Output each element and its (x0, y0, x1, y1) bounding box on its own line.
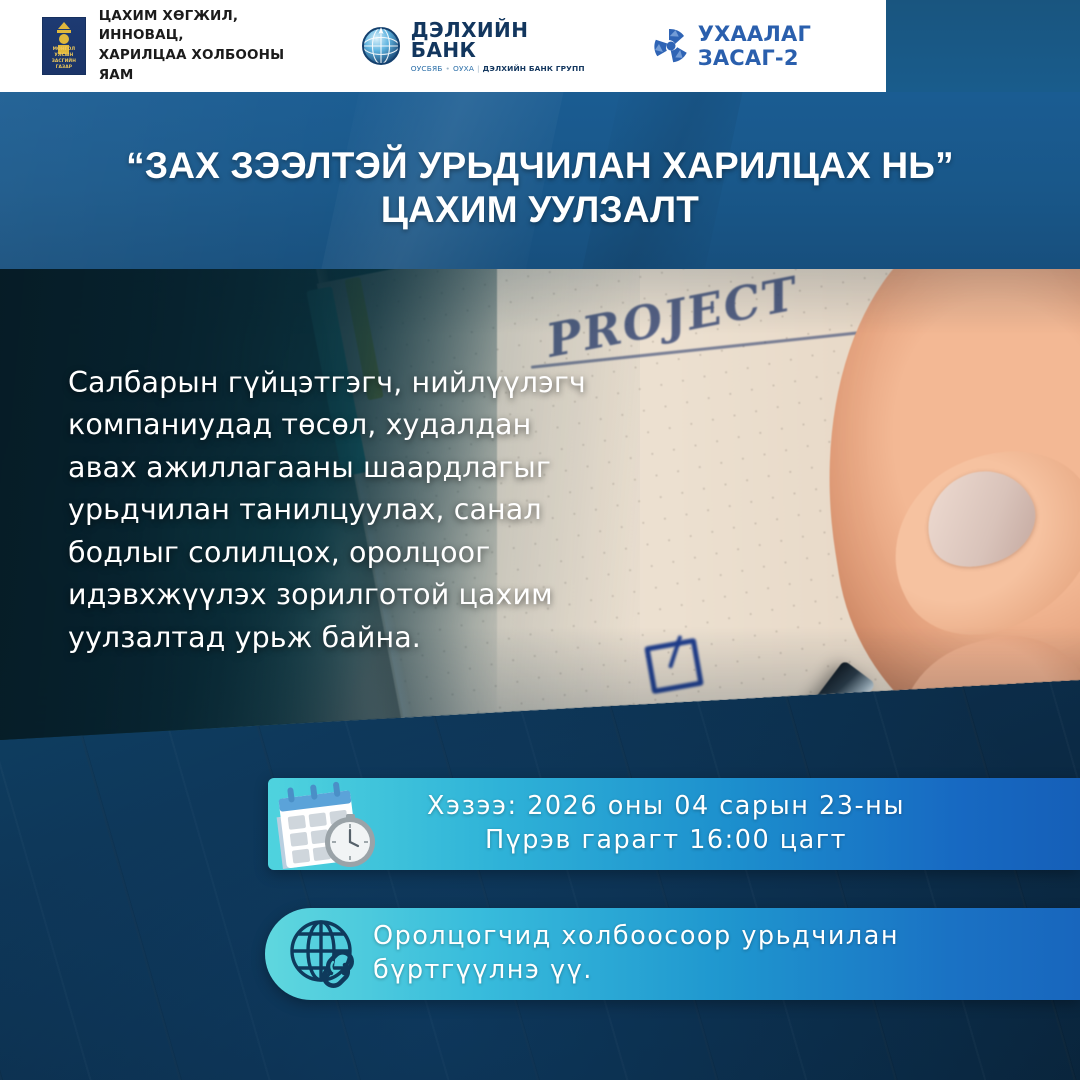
mongolia-soyombo-emblem-icon: МОНГОЛ УЛСЫН ЗАСГИЙН ГАЗАР (42, 17, 86, 75)
date-banner-text: Хэзээ: 2026 оны 04 сарын 23-ны Пүрэв гар… (386, 790, 946, 857)
emblem-caption: МОНГОЛ УЛСЫН ЗАСГИЙН ГАЗАР (43, 47, 85, 71)
smart-government-pinwheel-icon (651, 26, 691, 66)
event-poster: PROJECT Салбарын гүйц (0, 0, 1080, 1080)
world-bank-subtitle: ОУСБЯБ•ОУХА|ДЭЛХИЙН БАНК ГРУПП (411, 64, 585, 73)
body-paragraph: Салбарын гүйцэтгэгч, нийлүүлэгч компаниу… (68, 362, 588, 659)
title-band: “ЗАХ ЗЭЭЛТЭЙ УРЬДЧИЛАН ХАРИЛЦАХ НЬ” ЦАХИ… (0, 92, 1080, 269)
page-title: “ЗАХ ЗЭЭЛТЭЙ УРЬДЧИЛАН ХАРИЛЦАХ НЬ” ЦАХИ… (0, 92, 1080, 231)
world-bank-title: ДЭЛХИЙН БАНК (411, 20, 585, 60)
world-bank-globe-icon (360, 25, 402, 67)
date-banner: Хэзээ: 2026 оны 04 сарын 23-ны Пүрэв гар… (268, 778, 1080, 870)
wb-sub-mid: ОУХА (453, 64, 474, 73)
calendar-clock-icon (258, 772, 384, 880)
smart-government-title: УХААЛАГ ЗАСАГ-2 (698, 22, 886, 70)
globe-link-icon (287, 917, 361, 991)
smart-government-logo: УХААЛАГ ЗАСАГ-2 (651, 22, 886, 70)
registration-banner-text: Оролцогчид холбоосоор урьдчилан бүртгүүл… (373, 920, 899, 987)
ministry-name: ЦАХИМ ХӨГЖИЛ, ИННОВАЦ, ХАРИЛЦАА ХОЛБООНЫ… (99, 7, 298, 85)
registration-banner: Оролцогчид холбоосоор урьдчилан бүртгүүл… (265, 908, 1080, 1000)
world-bank-logo: ДЭЛХИЙН БАНК ОУСБЯБ•ОУХА|ДЭЛХИЙН БАНК ГР… (360, 20, 585, 73)
header-right-fill (886, 0, 1080, 92)
logo-strip: МОНГОЛ УЛСЫН ЗАСГИЙН ГАЗАР ЦАХИМ ХӨГЖИЛ,… (0, 0, 886, 92)
wb-sub-left: ОУСБЯБ (411, 64, 443, 73)
government-logo: МОНГОЛ УЛСЫН ЗАСГИЙН ГАЗАР ЦАХИМ ХӨГЖИЛ,… (42, 7, 298, 85)
wb-sub-right: ДЭЛХИЙН БАНК ГРУПП (483, 64, 585, 73)
